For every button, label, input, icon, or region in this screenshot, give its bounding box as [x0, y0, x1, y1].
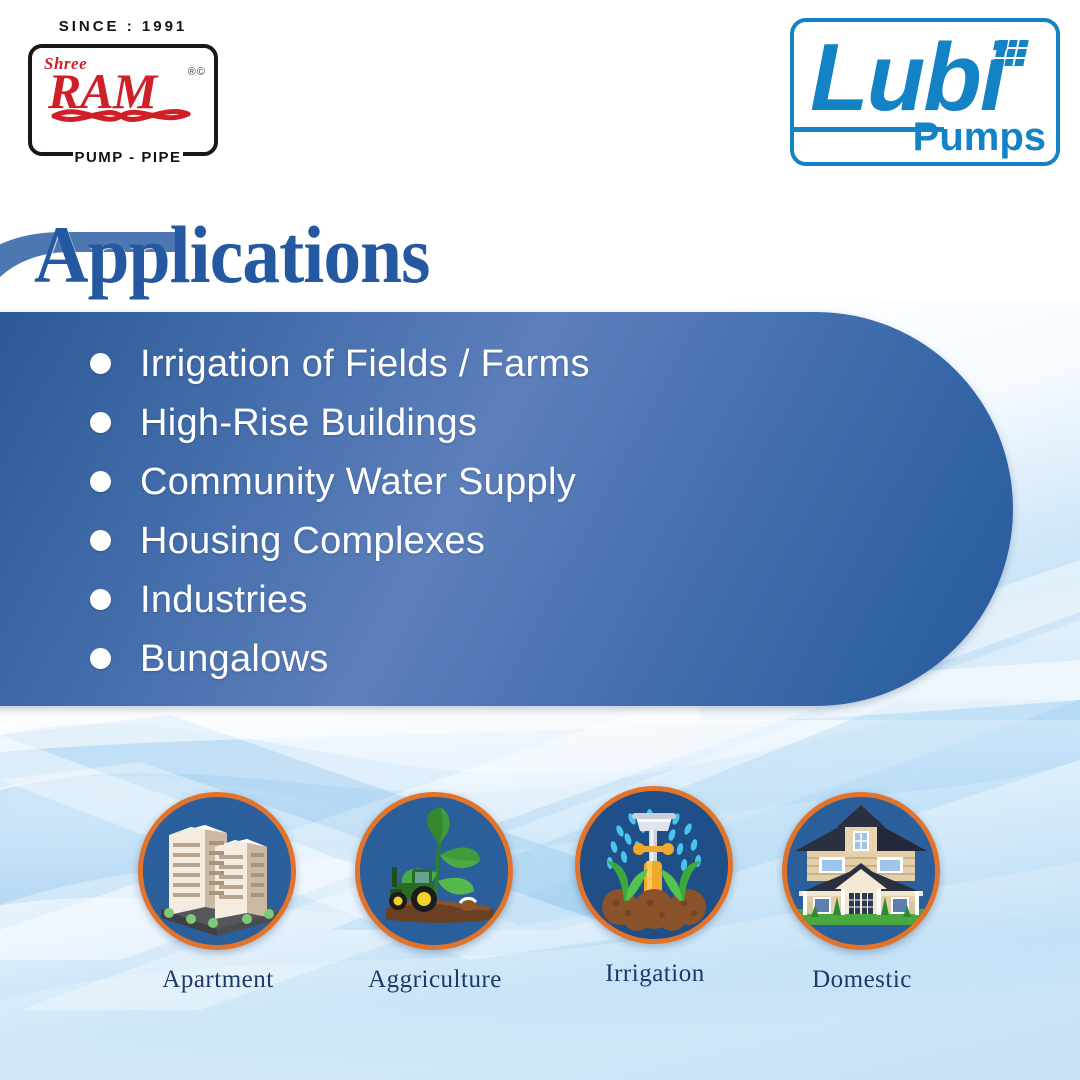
ram-wordmark-icon: RAM	[46, 62, 196, 124]
pump-pipe-text: PUMP - PIPE	[73, 149, 183, 166]
segment-label: Irrigation	[575, 960, 735, 988]
segment-irrigation: Irrigation	[575, 786, 735, 988]
registered-mark: ®©	[188, 66, 206, 78]
segment-apartment: Apartment	[138, 792, 298, 994]
list-item-label: Community Water Supply	[140, 462, 576, 502]
bullet-dot-icon	[90, 589, 111, 610]
list-item-label: Irrigation of Fields / Farms	[140, 344, 590, 384]
apartment-buildings-icon	[138, 792, 296, 950]
list-item-label: High-Rise Buildings	[140, 403, 477, 443]
segment-label: Domestic	[782, 966, 942, 994]
list-item: Housing Complexes	[90, 511, 990, 570]
list-item: Industries	[90, 570, 990, 629]
bullet-dot-icon	[90, 648, 111, 669]
poster-canvas: SINCE : 1991 Shree RAM ®© PUMP - PIPE Lu…	[0, 0, 1080, 1080]
page-title: Applications	[34, 214, 430, 296]
pumps-text: Pumps	[913, 115, 1046, 160]
bullet-dot-icon	[90, 353, 111, 374]
bullet-dot-icon	[90, 471, 111, 492]
lubi-wordmark: Lubi	[810, 30, 1005, 126]
since-text: SINCE : 1991	[18, 18, 228, 35]
sprinkler-icon	[575, 786, 733, 944]
segment-label: Apartment	[138, 966, 298, 994]
list-item: Irrigation of Fields / Farms	[90, 334, 990, 393]
list-item-label: Industries	[140, 580, 308, 620]
list-item-label: Housing Complexes	[140, 521, 485, 561]
grid-squares-icon	[993, 40, 1029, 66]
house-icon	[782, 792, 940, 950]
segment-label: Aggriculture	[355, 966, 515, 994]
segment-agriculture: Aggriculture	[355, 792, 515, 994]
bullet-dot-icon	[90, 412, 111, 433]
list-item: Bungalows	[90, 629, 990, 688]
segment-domestic: Domestic	[782, 792, 942, 994]
list-item: High-Rise Buildings	[90, 393, 990, 452]
applications-panel-inner: Irrigation of Fields / Farms High-Rise B…	[0, 312, 1013, 706]
lubi-pumps-logo: Lubi Pumps	[790, 18, 1060, 166]
tractor-plant-icon	[355, 792, 513, 950]
applications-list: Irrigation of Fields / Farms High-Rise B…	[90, 334, 990, 688]
list-item-label: Bungalows	[140, 639, 329, 679]
shree-ram-logo: SINCE : 1991 Shree RAM ®© PUMP - PIPE	[18, 18, 228, 168]
applications-panel: Irrigation of Fields / Farms High-Rise B…	[0, 312, 1013, 706]
bullet-dot-icon	[90, 530, 111, 551]
list-item: Community Water Supply	[90, 452, 990, 511]
